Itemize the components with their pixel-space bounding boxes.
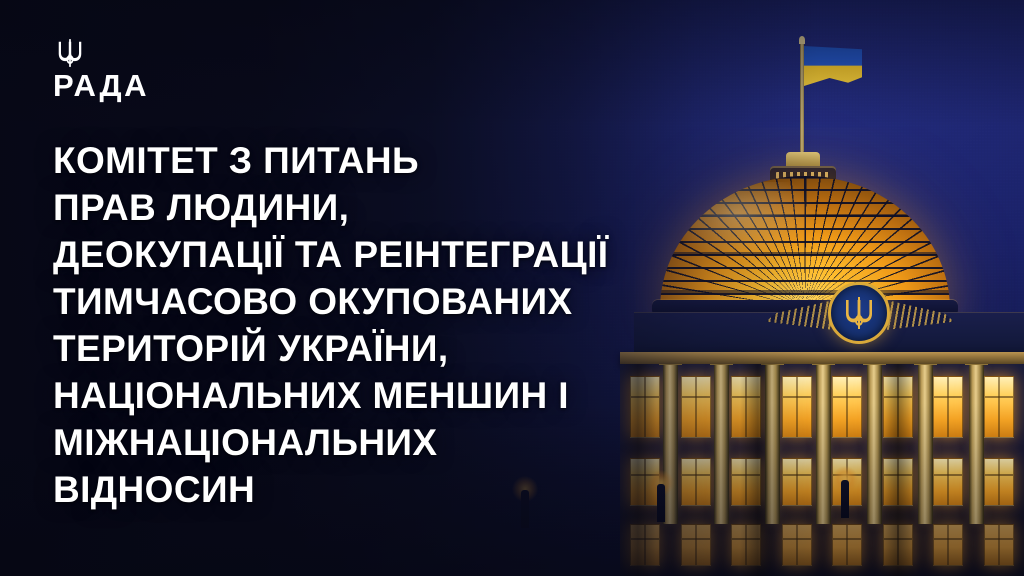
banner-content: РАДА КОМІТЕТ З ПИТАНЬ ПРАВ ЛЮДИНИ, ДЕОКУ… — [0, 0, 1024, 576]
title-line: КОМІТЕТ З ПИТАНЬ — [53, 137, 773, 184]
title-line: НАЦІОНАЛЬНИХ МЕНШИН І — [53, 372, 773, 419]
title-line: ДЕОКУПАЦІЇ ТА РЕІНТЕГРАЦІЇ — [53, 231, 773, 278]
title-line: ВІДНОСИН — [53, 466, 773, 513]
title-line: ТИМЧАСОВО ОКУПОВАНИХ — [53, 278, 773, 325]
page-title: КОМІТЕТ З ПИТАНЬ ПРАВ ЛЮДИНИ, ДЕОКУПАЦІЇ… — [53, 137, 773, 513]
promo-banner: РАДА КОМІТЕТ З ПИТАНЬ ПРАВ ЛЮДИНИ, ДЕОКУ… — [0, 0, 1024, 576]
rada-wordmark: РАДА — [53, 70, 149, 101]
rada-logo[interactable]: РАДА — [53, 38, 149, 101]
title-line: ТЕРИТОРІЙ УКРАЇНИ, — [53, 325, 773, 372]
title-line: ПРАВ ЛЮДИНИ, — [53, 184, 773, 231]
ukrainian-trident-icon — [57, 38, 83, 68]
title-line: МІЖНАЦІОНАЛЬНИХ — [53, 419, 773, 466]
